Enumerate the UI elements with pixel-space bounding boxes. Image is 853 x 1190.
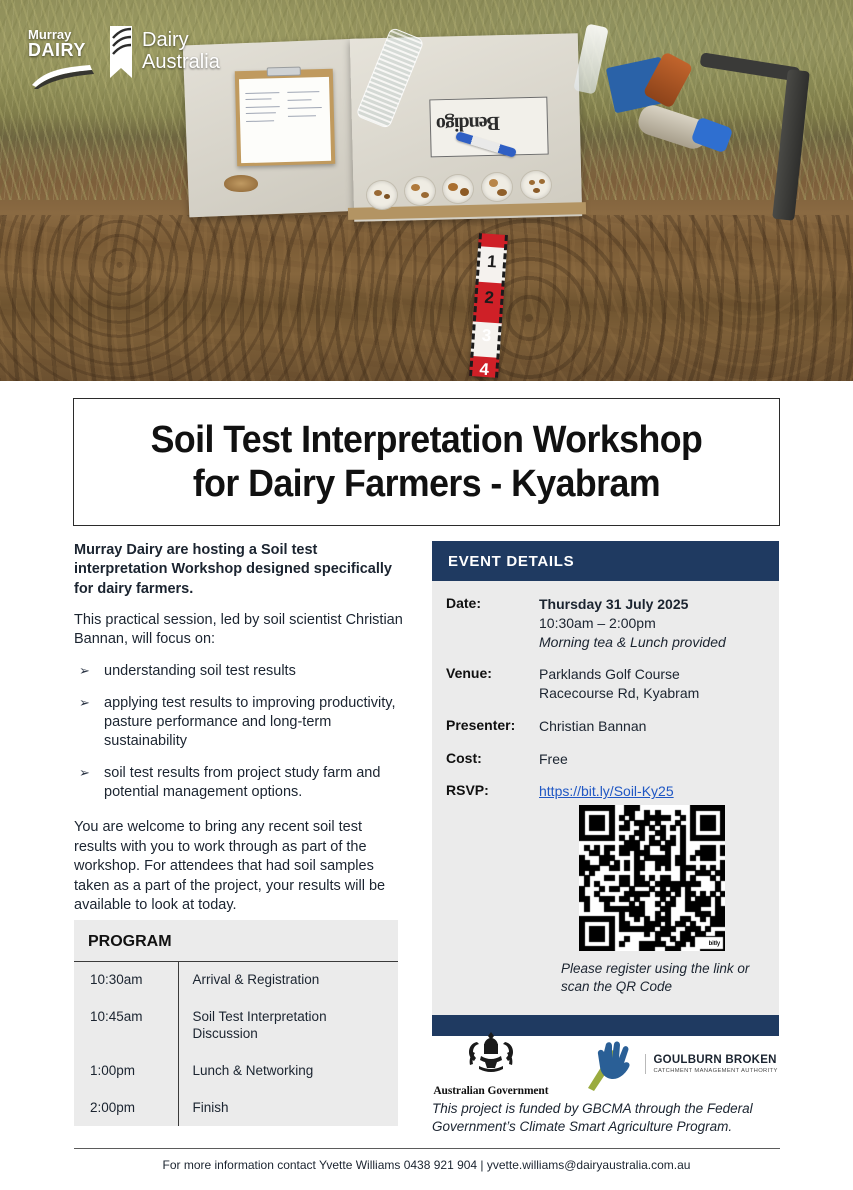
program-time: 10:45am bbox=[74, 999, 178, 1053]
title-line-2: for Dairy Farmers - Kyabram bbox=[193, 463, 660, 505]
clipboard bbox=[235, 69, 335, 167]
gbcma-line-2: CATCHMENT MANAGEMENT AUTHORITY bbox=[653, 1068, 777, 1074]
clipboard-clip bbox=[267, 67, 301, 77]
date-note: Morning tea & Lunch provided bbox=[539, 633, 726, 652]
program-heading: PROGRAM bbox=[74, 920, 398, 962]
program-item: Arrival & Registration bbox=[178, 962, 398, 999]
page-title: Soil Test Interpretation Workshop for Da… bbox=[151, 418, 703, 506]
program-time: 10:30am bbox=[74, 962, 178, 999]
flyer-page: Bendigo 12 34 M bbox=[0, 0, 853, 1190]
qr-canvas[interactable] bbox=[579, 805, 725, 951]
qr-watermark: bitly bbox=[709, 940, 720, 948]
footer-contact: For more information contact Yvette Will… bbox=[0, 1158, 853, 1172]
murray-dairy-line2: DAIRY bbox=[28, 41, 100, 60]
arrow-bullet-icon: ➢ bbox=[79, 694, 90, 711]
qr-code[interactable]: bitly bbox=[579, 805, 725, 951]
event-row-date: Date: Thursday 31 July 2025 10:30am – 2:… bbox=[446, 595, 765, 651]
gbcma-line-1: GOULBURN BROKEN bbox=[653, 1054, 777, 1066]
rsvp-link[interactable]: https://bit.ly/Soil-Ky25 bbox=[539, 783, 674, 799]
program-item: Soil Test Interpretation Discussion bbox=[178, 999, 398, 1053]
program-item: Lunch & Networking bbox=[178, 1053, 398, 1090]
funder-logos: Australian Government GOULBURN BROKEN CA… bbox=[432, 1030, 779, 1097]
intro-lead: Murray Dairy are hosting a Soil test int… bbox=[74, 541, 404, 599]
list-item-label: understanding soil test results bbox=[104, 663, 296, 679]
date-label: Date: bbox=[446, 595, 539, 651]
rsvp-value-group: https://bit.ly/Soil-Ky25 bitly Please re… bbox=[539, 782, 765, 995]
cost-label: Cost: bbox=[446, 750, 539, 769]
event-details-panel: EVENT DETAILS Date: Thursday 31 July 202… bbox=[432, 541, 779, 1036]
gbcma-text: GOULBURN BROKEN CATCHMENT MANAGEMENT AUT… bbox=[645, 1054, 777, 1074]
program-table: PROGRAM 10:30am Arrival & Registration 1… bbox=[74, 920, 398, 1126]
event-row-cost: Cost: Free bbox=[446, 750, 765, 769]
intro-closing: You are welcome to bring any recent soil… bbox=[74, 818, 404, 916]
soil-pile bbox=[224, 175, 258, 192]
murray-dairy-logo: Murray DAIRY bbox=[28, 28, 100, 88]
soil-texture bbox=[0, 215, 853, 381]
dairy-australia-ribbon-icon bbox=[108, 26, 134, 84]
dairy-australia-logo: Dairy Australia bbox=[108, 26, 220, 84]
qr-caption: Please register using the link or scan t… bbox=[539, 960, 765, 995]
program-time: 2:00pm bbox=[74, 1090, 178, 1127]
petri-dish bbox=[366, 180, 398, 210]
list-item: ➢ soil test results from project study f… bbox=[74, 764, 404, 803]
qr-code-block: bitly Please register using the link or … bbox=[539, 805, 765, 995]
venue-line-2: Racecourse Rd, Kyabram bbox=[539, 684, 699, 703]
table-row: 1:00pm Lunch & Networking bbox=[74, 1053, 398, 1090]
footer-divider bbox=[74, 1148, 780, 1149]
dairy-australia-line1: Dairy bbox=[142, 30, 220, 52]
venue-value-group: Parklands Golf Course Racecourse Rd, Kya… bbox=[539, 665, 699, 703]
event-row-rsvp: RSVP: https://bit.ly/Soil-Ky25 bitly Ple… bbox=[446, 782, 765, 995]
date-value-group: Thursday 31 July 2025 10:30am – 2:00pm M… bbox=[539, 595, 726, 651]
petri-dish bbox=[442, 174, 474, 204]
list-item-label: applying test results to improving produ… bbox=[104, 695, 395, 750]
intro-column: Murray Dairy are hosting a Soil test int… bbox=[74, 541, 404, 916]
list-item-label: soil test results from project study far… bbox=[104, 765, 380, 800]
petri-dish bbox=[520, 170, 552, 200]
hero-photo: Bendigo 12 34 M bbox=[0, 0, 853, 381]
table-row: 2:00pm Finish bbox=[74, 1090, 398, 1127]
list-item: ➢ understanding soil test results bbox=[74, 662, 404, 681]
focus-bullet-list: ➢ understanding soil test results ➢ appl… bbox=[74, 662, 404, 802]
event-details-heading: EVENT DETAILS bbox=[432, 541, 779, 581]
gbcma-hand-leaf-icon bbox=[582, 1036, 638, 1092]
table-row: 10:30am Arrival & Registration bbox=[74, 962, 398, 999]
date-time: 10:30am – 2:00pm bbox=[539, 614, 726, 633]
rsvp-label: RSVP: bbox=[446, 782, 539, 995]
program-time: 1:00pm bbox=[74, 1053, 178, 1090]
list-item: ➢ applying test results to improving pro… bbox=[74, 694, 404, 752]
event-row-venue: Venue: Parklands Golf Course Racecourse … bbox=[446, 665, 765, 703]
date-value: Thursday 31 July 2025 bbox=[539, 595, 726, 614]
dairy-australia-line2: Australia bbox=[142, 52, 220, 74]
title-line-1: Soil Test Interpretation Workshop bbox=[151, 419, 703, 461]
coat-of-arms-icon bbox=[461, 1030, 521, 1078]
event-details-body: Date: Thursday 31 July 2025 10:30am – 2:… bbox=[432, 581, 779, 1015]
cost-value: Free bbox=[539, 750, 568, 769]
intro-paragraph: This practical session, led by soil scie… bbox=[74, 611, 404, 650]
venue-label: Venue: bbox=[446, 665, 539, 703]
presenter-value: Christian Bannan bbox=[539, 717, 646, 736]
petri-dish bbox=[404, 176, 436, 206]
funding-note: This project is funded by GBCMA through … bbox=[432, 1100, 784, 1135]
arrow-bullet-icon: ➢ bbox=[79, 764, 90, 781]
arrow-bullet-icon: ➢ bbox=[79, 662, 90, 679]
magazine-title: Bendigo bbox=[437, 111, 501, 136]
table-row: 10:45am Soil Test Interpretation Discuss… bbox=[74, 999, 398, 1053]
petri-dish bbox=[481, 172, 513, 202]
venue-line-1: Parklands Golf Course bbox=[539, 665, 699, 684]
event-row-presenter: Presenter: Christian Bannan bbox=[446, 717, 765, 736]
presenter-label: Presenter: bbox=[446, 717, 539, 736]
murray-dairy-wave-icon bbox=[28, 63, 100, 89]
gbcma-logo: GOULBURN BROKEN CATCHMENT MANAGEMENT AUT… bbox=[582, 1036, 777, 1092]
title-box: Soil Test Interpretation Workshop for Da… bbox=[73, 398, 780, 526]
australian-government-label: Australian Government bbox=[433, 1085, 548, 1097]
program-item: Finish bbox=[178, 1090, 398, 1127]
australian-government-logo: Australian Government bbox=[433, 1030, 548, 1097]
